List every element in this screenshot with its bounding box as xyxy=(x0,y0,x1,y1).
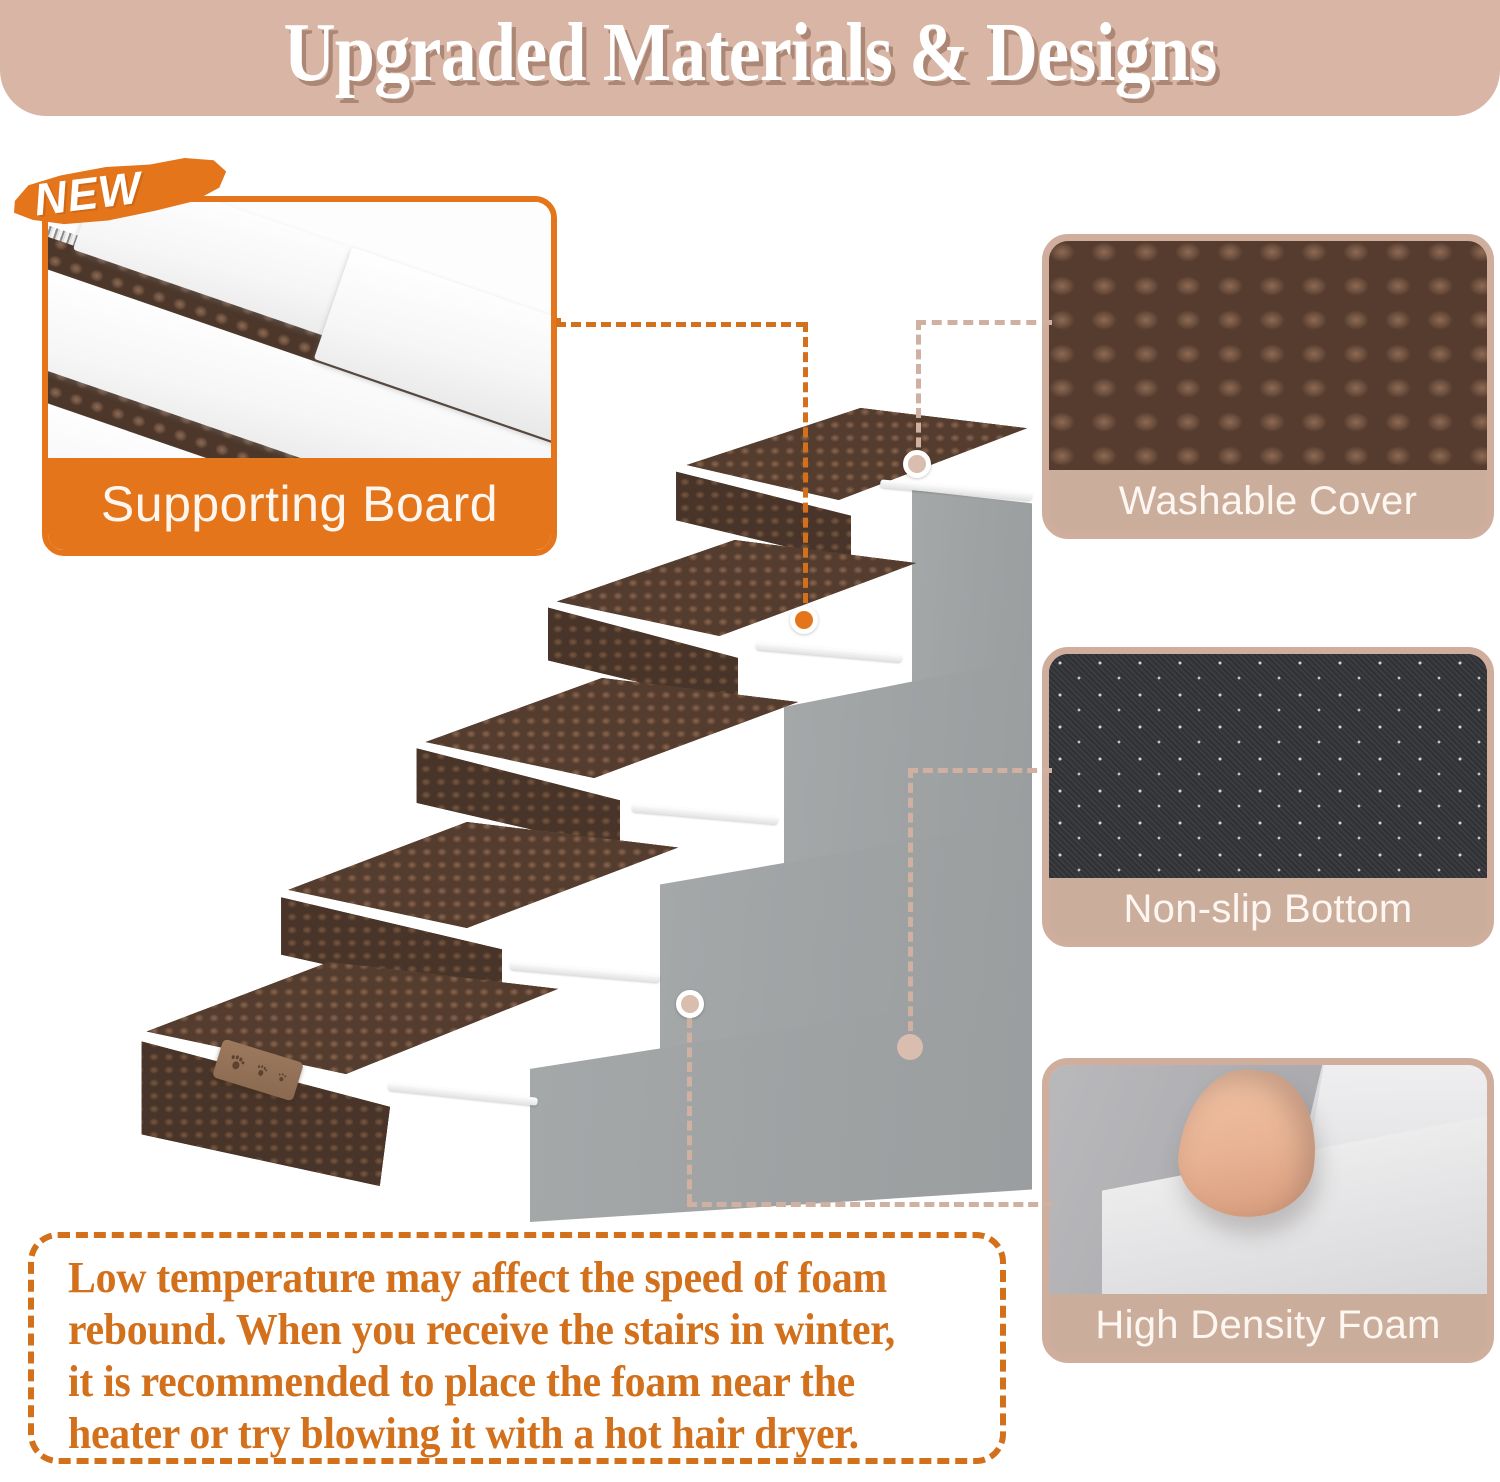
connector-washable-cover-vertical xyxy=(916,320,921,462)
piping-1 xyxy=(388,1082,538,1106)
piping-3 xyxy=(632,804,778,825)
paw-icon-small xyxy=(277,1072,288,1083)
washable-cover-photo xyxy=(1049,241,1487,470)
high-density-foam-label-bar: High Density Foam xyxy=(1049,1294,1487,1356)
note-line-2: rebound. When you receive the stairs in … xyxy=(68,1304,925,1356)
connector-supporting-board-vertical xyxy=(803,322,808,618)
connector-dot-supporting-board[interactable] xyxy=(790,606,818,634)
connector-dot-non-slip[interactable] xyxy=(897,1034,923,1060)
non-slip-bottom-label-bar: Non-slip Bottom xyxy=(1049,878,1487,940)
callout-card-non-slip-bottom: Non-slip Bottom xyxy=(1042,647,1494,947)
connector-supporting-board-horizontal xyxy=(556,322,806,327)
piping-2 xyxy=(510,961,660,982)
note-line-4: heater or try blowing it with a hot hair… xyxy=(68,1408,925,1460)
page-title: Upgraded Materials & Designs xyxy=(105,4,1395,101)
dotted-grip-texture xyxy=(1049,654,1487,878)
connector-foam-vertical xyxy=(687,1018,692,1204)
non-slip-bottom-photo xyxy=(1049,654,1487,878)
connector-washable-cover-horizontal xyxy=(916,320,1052,325)
piping-4 xyxy=(756,642,902,663)
new-badge: NEW xyxy=(8,158,236,236)
paw-icon-medium xyxy=(254,1064,269,1079)
connector-non-slip-horizontal xyxy=(908,768,1052,773)
connector-dot-high-density-foam[interactable] xyxy=(676,990,704,1018)
connector-non-slip-vertical xyxy=(908,768,913,1046)
note-line-3: it is recommended to place the foam near… xyxy=(68,1356,925,1408)
washable-cover-label: Washable Cover xyxy=(1119,479,1417,524)
connector-dot-washable-cover[interactable] xyxy=(903,450,931,478)
paw-icon-large xyxy=(227,1054,247,1074)
callout-card-high-density-foam: High Density Foam xyxy=(1042,1058,1494,1363)
callout-card-washable-cover: Washable Cover xyxy=(1042,234,1494,539)
warning-note-box: Low temperature may affect the speed of … xyxy=(28,1232,1006,1464)
washable-cover-label-bar: Washable Cover xyxy=(1049,470,1487,532)
connector-foam-horizontal xyxy=(687,1202,1053,1207)
high-density-foam-label: High Density Foam xyxy=(1095,1303,1440,1348)
non-slip-bottom-label: Non-slip Bottom xyxy=(1123,887,1412,932)
foam-background xyxy=(1049,1065,1487,1294)
new-badge-label: NEW xyxy=(31,162,145,227)
note-line-1: Low temperature may affect the speed of … xyxy=(68,1252,925,1304)
high-density-foam-photo xyxy=(1049,1065,1487,1294)
brown-fabric-texture xyxy=(1049,241,1487,470)
